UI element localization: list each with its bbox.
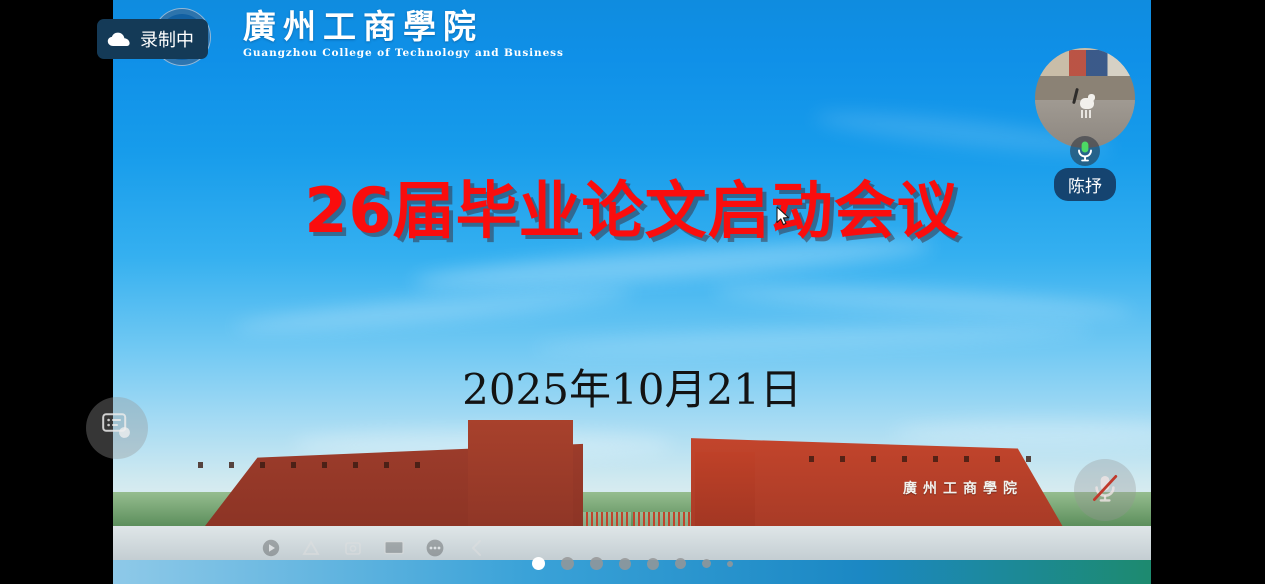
background-shelf [1069, 50, 1135, 76]
participant-video-avatar[interactable] [1035, 48, 1135, 148]
slide-pagination[interactable] [113, 557, 1151, 570]
chat-message-icon [102, 413, 132, 444]
chevron-left-icon[interactable] [466, 538, 486, 558]
pagination-dot[interactable] [702, 559, 711, 568]
video-meeting-stage: 廣州工商學院 26届毕业论文启动会议 2025年10月21日 廣州工商學院 Gu… [0, 0, 1265, 584]
building-window-row [198, 462, 420, 468]
pen-icon[interactable] [302, 538, 322, 558]
pagination-dot[interactable] [561, 557, 574, 570]
shared-slide[interactable]: 廣州工商學院 26届毕业论文启动会议 2025年10月21日 廣州工商學院 Gu… [113, 0, 1151, 584]
arrow-cursor [776, 206, 792, 233]
pagination-dot[interactable] [647, 558, 659, 570]
pagination-dot[interactable] [619, 558, 631, 570]
recording-indicator[interactable]: 录制中 [97, 19, 208, 59]
ppt-presentation-toolbar[interactable] [261, 538, 486, 558]
pagination-dot[interactable] [675, 558, 686, 569]
recording-label: 录制中 [140, 26, 194, 52]
campus-building-left-tower [468, 420, 573, 538]
microphone-muted-icon [1088, 471, 1122, 510]
pagination-dot[interactable] [590, 557, 603, 570]
cat-in-frame [1078, 92, 1094, 118]
screen-icon[interactable] [384, 538, 404, 558]
logo-text-block: 廣州工商學院 Guangzhou College of Technology a… [243, 10, 564, 59]
mute-button[interactable] [1074, 459, 1136, 521]
slide-title: 26届毕业论文启动会议 [113, 160, 1151, 250]
participant-name: 陈抒 [1054, 168, 1116, 201]
chat-button[interactable] [86, 397, 148, 459]
participant-tile[interactable]: 陈抒 [1035, 48, 1135, 148]
slide-date: 2025年10月21日 [113, 356, 1151, 417]
logo-english-name: Guangzhou College of Technology and Busi… [243, 47, 564, 59]
logo-chinese-name: 廣州工商學院 [243, 10, 564, 45]
play-icon[interactable] [261, 538, 281, 558]
cloud-icon [107, 32, 131, 47]
microphone-active-icon[interactable] [1070, 136, 1100, 166]
pagination-dot[interactable] [532, 557, 545, 570]
pagination-dot[interactable] [727, 561, 733, 567]
building-window-row [809, 456, 1031, 462]
pointer-icon[interactable] [343, 538, 363, 558]
more-dots-icon[interactable] [425, 538, 445, 558]
building-name-sign: 廣州工商學院 [903, 478, 1023, 498]
